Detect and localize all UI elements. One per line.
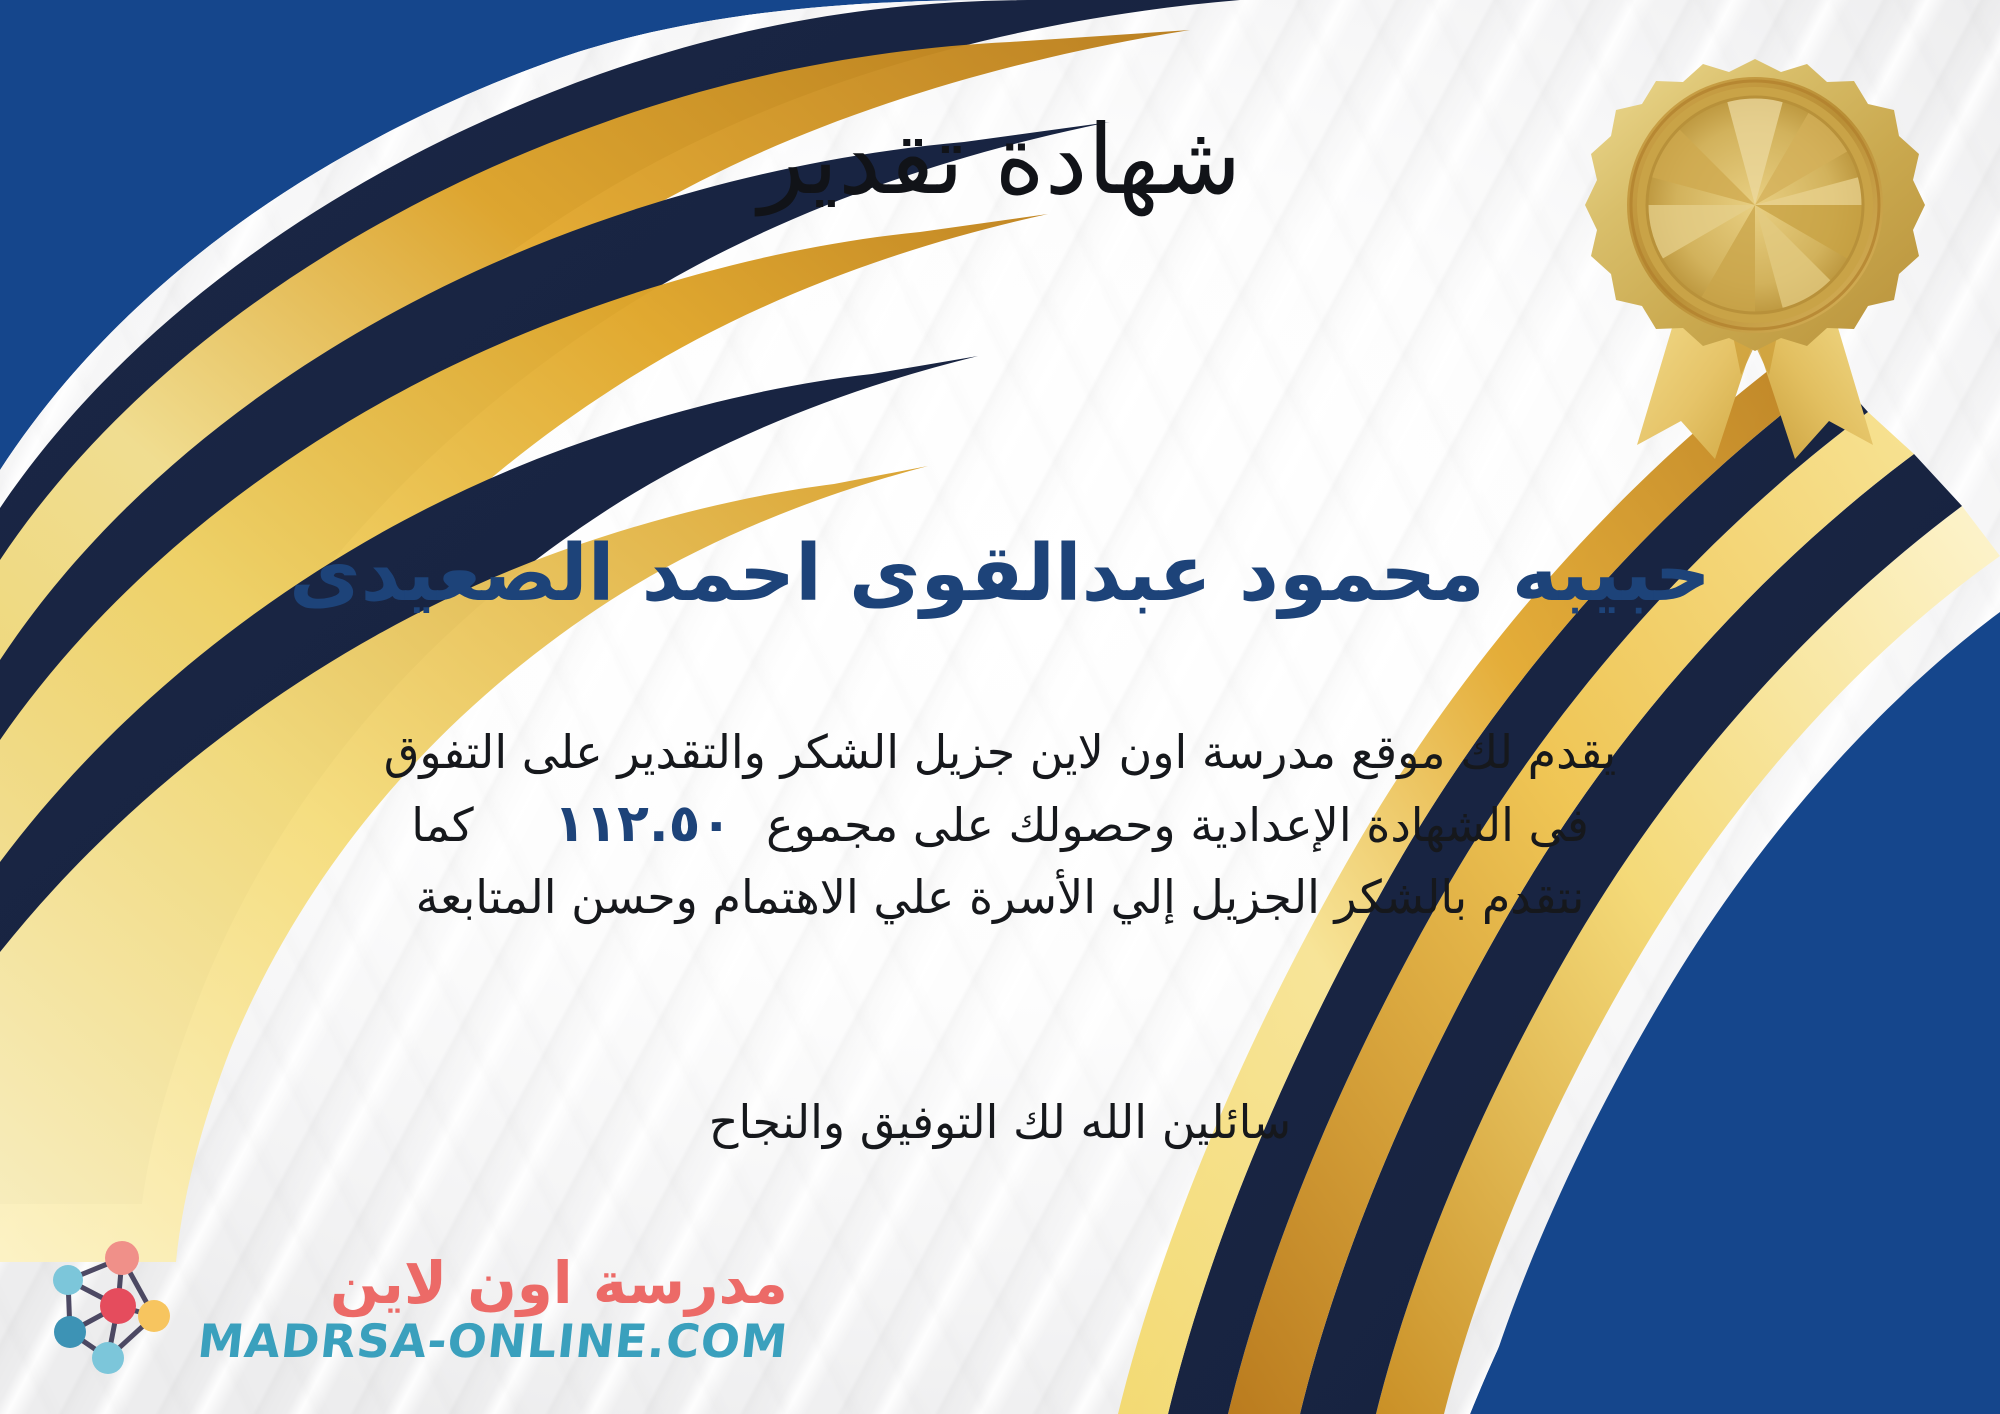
certificate-canvas: شهادة تقدير حبيبه محمود عبدالقوى احمد ال… xyxy=(0,0,2000,1414)
logo-domain: MADRSA-ONLINE.COM xyxy=(196,1318,791,1364)
certificate-content: شهادة تقدير حبيبه محمود عبدالقوى احمد ال… xyxy=(0,0,2000,1414)
logo-text-block: مدرسة اون لاين MADRSA-ONLINE.COM xyxy=(198,1254,788,1364)
body-line-1: يقدم لك موقع مدرسة اون لاين جزيل الشكر و… xyxy=(60,718,1940,786)
certificate-title: شهادة تقدير xyxy=(0,108,2000,214)
body-line-3: نتقدم بالشكر الجزيل إلي الأسرة علي الاهت… xyxy=(60,863,1940,931)
certificate-body: يقدم لك موقع مدرسة اون لاين جزيل الشكر و… xyxy=(60,718,1940,931)
recipient-name: حبيبه محمود عبدالقوى احمد الصعيدى xyxy=(0,530,2000,620)
body-line-2: فى الشهادة الإعدادية وحصولك على مجموع١١٢… xyxy=(60,786,1940,863)
body-line-2-start: فى الشهادة الإعدادية وحصولك على مجموع xyxy=(766,798,1589,852)
site-logo[interactable]: مدرسة اون لاين MADRSA-ONLINE.COM xyxy=(34,1232,788,1386)
total-score-value: ١١٢.٥٠ xyxy=(520,794,766,854)
network-nodes-icon xyxy=(34,1232,184,1386)
body-line-2-end: كما xyxy=(411,798,520,852)
logo-arabic-name: مدرسة اون لاين xyxy=(330,1254,788,1312)
closing-wishes: سائلين الله لك التوفيق والنجاح xyxy=(0,1095,2000,1149)
